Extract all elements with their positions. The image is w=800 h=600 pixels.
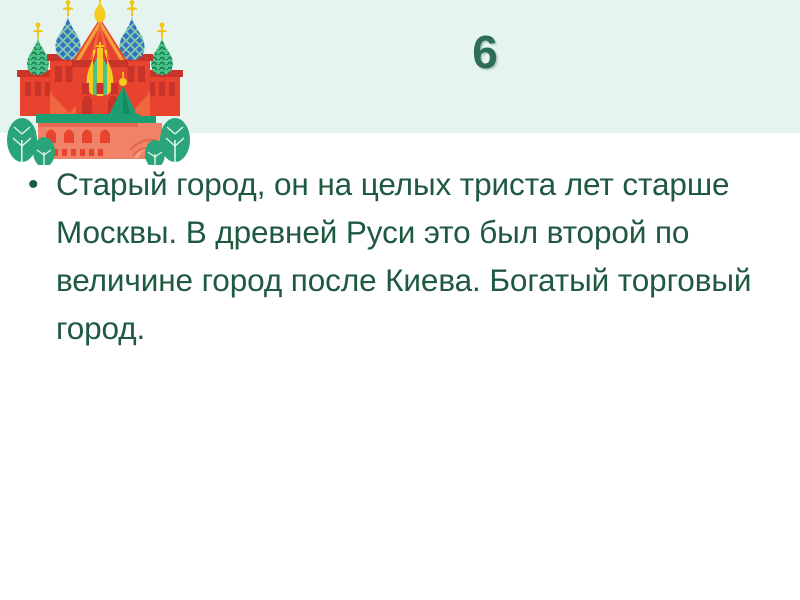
bullet-point-icon: • bbox=[22, 160, 56, 210]
slide-canvas: 6 • Старый город, он на целых триста лет… bbox=[0, 0, 800, 600]
bullet-paragraph-text: Старый город, он на целых триста лет ста… bbox=[56, 160, 782, 352]
slide-number-title: 6 bbox=[200, 28, 770, 76]
slide-body: • Старый город, он на целых триста лет с… bbox=[22, 160, 782, 352]
bullet-list-item: • Старый город, он на целых триста лет с… bbox=[22, 160, 782, 352]
